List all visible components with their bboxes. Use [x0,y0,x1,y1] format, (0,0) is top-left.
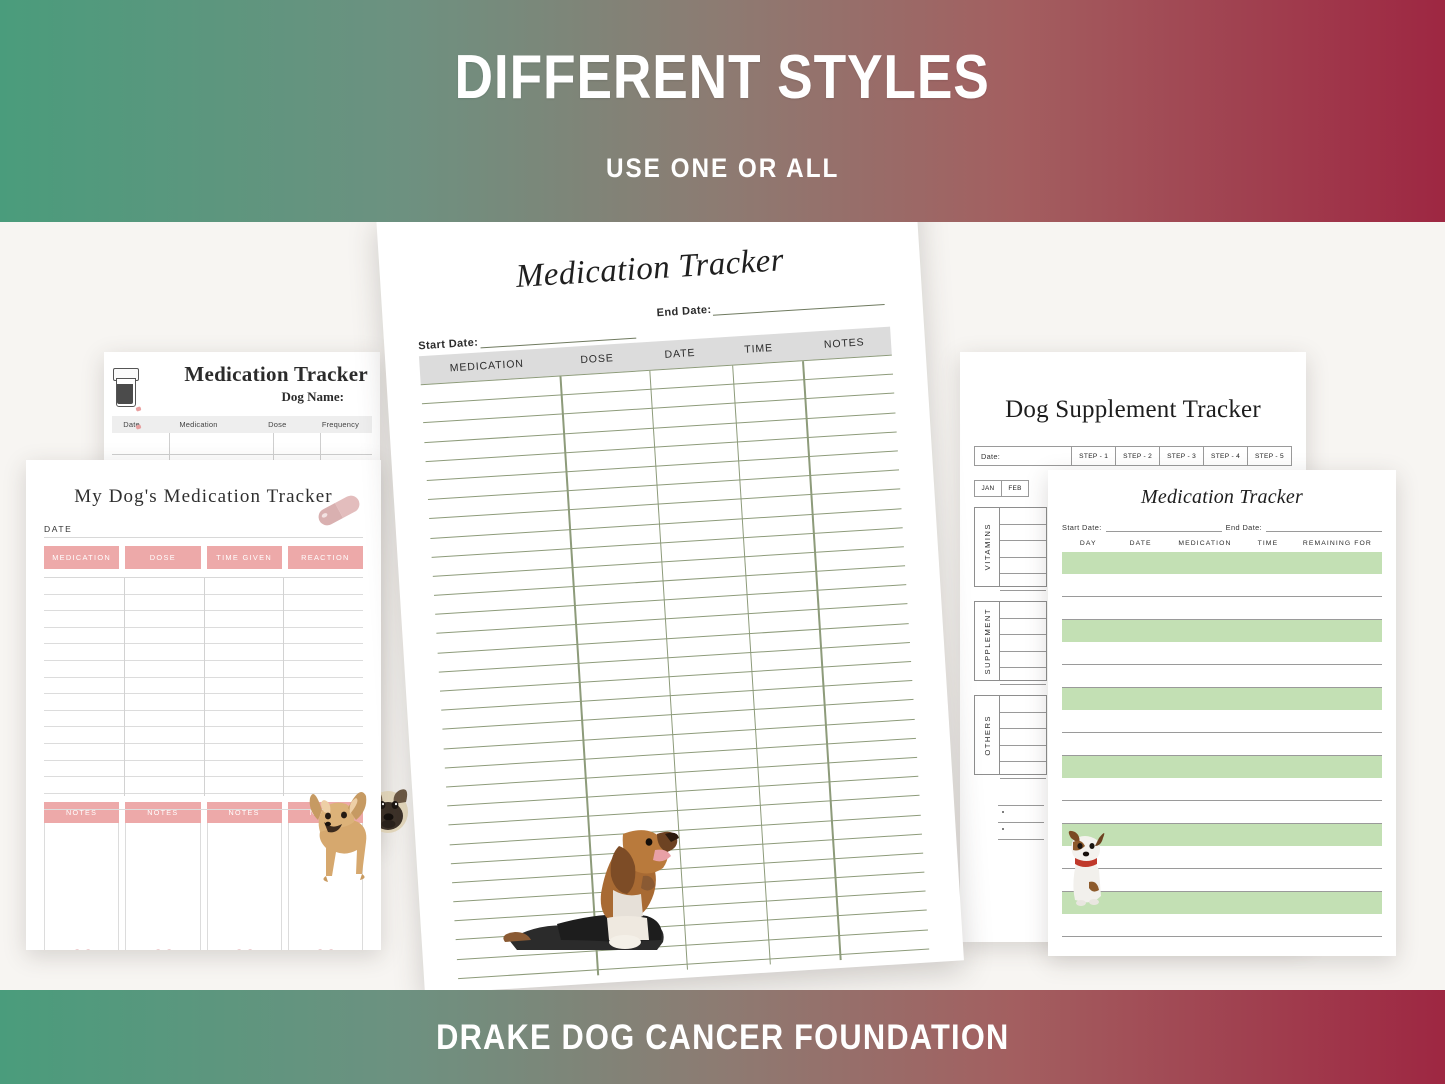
dog-photo-jack-russell [1063,826,1111,910]
sheet-d-date-step-row: Date: STEP - 1 STEP - 2 STEP - 3 STEP - … [974,446,1292,466]
sheet-b-date-label: DATE [44,524,363,534]
table-row[interactable] [1062,733,1382,756]
capsule-decor-icon [152,942,174,950]
dog-photo-chihuahua [298,778,372,896]
step-header: STEP - 2 [1115,447,1159,465]
table-row[interactable] [1062,597,1382,620]
column-header: DOSE [125,546,200,569]
pill-bottle-icon [112,368,138,406]
capsule-decor-icon [233,942,255,950]
table-row[interactable] [1062,574,1382,597]
section-label-text: SUPPLEMENT [983,608,992,674]
table-row-highlighted[interactable] [1062,756,1382,778]
step-header: STEP - 5 [1247,447,1291,465]
table-row[interactable] [1062,778,1382,801]
column-header: Date [112,420,151,429]
column-divider [204,578,205,796]
sheet-e-column-headers: DAY DATE MEDICATION TIME REMAINING FOR [1062,540,1382,547]
column-header: DATE [1114,540,1166,547]
column-header: MEDICATION [44,546,119,569]
end-date-label: End Date: [656,304,712,319]
table-row[interactable] [112,433,372,455]
column-header: MEDICATION [1167,540,1243,547]
table-row-highlighted[interactable] [1062,552,1382,574]
notes-box[interactable] [125,823,200,950]
date-label: Date: [975,447,1071,465]
column-header: MEDICATION [419,356,554,376]
section-rows[interactable] [1000,507,1047,587]
bottom-banner: DRAKE DOG CANCER FOUNDATION [0,990,1445,1084]
step-header: STEP - 3 [1159,447,1203,465]
section-label: VITAMINS [974,507,1000,587]
page-title: DIFFERENT STYLES [455,47,990,109]
column-divider [124,578,125,796]
table-row-highlighted[interactable] [1062,688,1382,710]
section-rows[interactable] [1000,695,1047,775]
sheet-e-title: Medication Tracker [1048,486,1396,509]
column-header: REACTION [288,546,363,569]
foundation-name: DRAKE DOG CANCER FOUNDATION [436,1020,1009,1055]
column-header: DAY [1062,540,1114,547]
sheet-a-column-headers: Date Medication Dose Frequency [112,416,372,433]
end-date-line[interactable] [1266,522,1382,532]
sheet-e-date-row: Start Date: End Date: [1062,522,1382,532]
sheet-a-header: Medication Tracker Dog Name: [104,352,380,406]
sheet-b-title: My Dog's Medication Tracker [26,486,381,508]
table-row[interactable] [1062,665,1382,688]
section-label-text: VITAMINS [983,523,992,570]
sheet-a-title: Medication Tracker [144,364,368,385]
column-header: NOTES [797,335,891,353]
top-banner: DIFFERENT STYLES USE ONE OR ALL [0,0,1445,222]
column-header: REMAINING FOR [1293,540,1382,547]
sheet-b-date-line[interactable] [44,536,363,538]
section-label: OTHERS [974,695,1000,775]
start-date-line[interactable] [1106,522,1222,532]
section-rows[interactable] [1000,601,1047,681]
end-date-line[interactable] [713,304,885,316]
poster-stage: DIFFERENT STYLES USE ONE OR ALL Medicati… [0,0,1445,1084]
dog-photo-basset-hound [497,790,693,965]
sheet-b-grid[interactable] [44,577,363,796]
column-header: TIME [1243,540,1293,547]
column-header: TIME [719,341,798,358]
capsule-decor-icon [71,942,93,950]
section-label: SUPPLEMENT [974,601,1000,681]
column-header: TIME GIVEN [207,546,282,569]
table-row[interactable] [1062,914,1382,937]
notes-box[interactable] [44,823,119,950]
start-date-label: Start Date: [1062,523,1102,532]
step-header: STEP - 4 [1203,447,1247,465]
page-subtitle: USE ONE OR ALL [606,155,839,182]
column-header: Dose [246,420,309,429]
sheet-a-dog-name-label: Dog Name: [144,389,344,405]
pill-dots-icon [136,398,142,434]
table-row[interactable] [1062,642,1382,665]
month-cell: FEB [1001,480,1029,497]
notes-box[interactable] [207,823,282,950]
step-header: STEP - 1 [1071,447,1115,465]
column-header: Frequency [309,420,372,429]
table-row-highlighted[interactable] [1062,620,1382,642]
month-cell: JAN [974,480,1001,497]
sheet-b-column-headers: MEDICATION DOSE TIME GIVEN REACTION [44,546,363,569]
column-header: Medication [151,420,246,429]
start-date-label: Start Date: [418,337,479,353]
end-date-label: End Date: [1226,523,1262,532]
table-row[interactable] [1062,937,1382,956]
column-header: DATE [640,345,720,362]
column-divider [283,578,284,796]
table-row[interactable] [1062,801,1382,824]
table-row[interactable] [1062,710,1382,733]
sheet-d-title: Dog Supplement Tracker [960,396,1306,424]
capsule-decor-icon [314,942,336,950]
column-header: DOSE [553,350,640,367]
section-label-text: OTHERS [983,715,992,756]
